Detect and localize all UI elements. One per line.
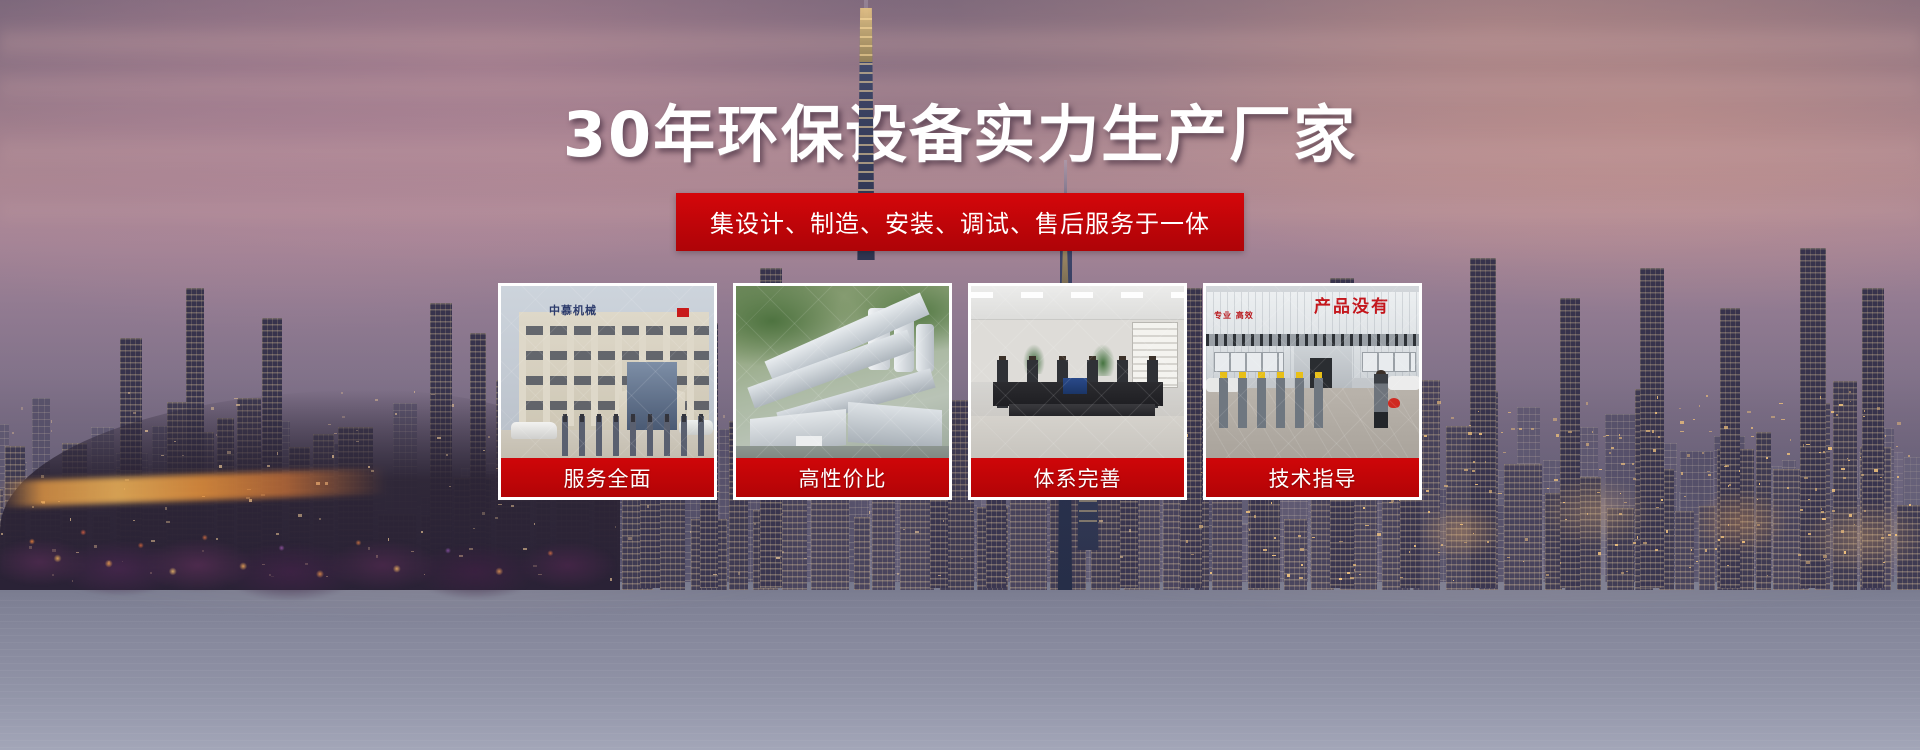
window-light [342, 416, 344, 418]
headline-text: 30年环保设备实力生产厂家 [563, 98, 1357, 171]
window-light [375, 399, 377, 401]
subtitle-banner: 集设计、制造、安装、调试、售后服务于一体 [676, 193, 1244, 251]
window-light [1347, 572, 1350, 574]
window-light [356, 441, 359, 443]
window-light [1254, 515, 1256, 518]
page-title: 30年环保设备实力生产厂家 [0, 104, 1920, 166]
window-light [1312, 537, 1314, 538]
window-light [1271, 502, 1273, 504]
window-light [1298, 535, 1301, 537]
window-light [51, 420, 52, 423]
window-light [12, 432, 14, 434]
feature-card[interactable]: 体系完善 [968, 283, 1187, 500]
window-light [1263, 549, 1266, 551]
window-light [1191, 554, 1194, 555]
factory-sign-text: 产品没有 [1314, 296, 1418, 318]
window-light [1249, 529, 1250, 530]
window-light [738, 572, 740, 575]
building-sign-text: 中慕机械 [549, 302, 653, 318]
window-light [1299, 577, 1303, 579]
window-light [1186, 540, 1188, 543]
window-light [341, 392, 343, 395]
office-meeting-photo [968, 283, 1187, 458]
feature-card-label: 高性价比 [733, 458, 952, 500]
window-light [782, 551, 784, 553]
building [900, 497, 933, 590]
window-light [1300, 548, 1304, 550]
window-light [903, 529, 905, 530]
window-light [145, 430, 148, 432]
feature-card[interactable]: 中慕机械 服务全面 [498, 283, 717, 500]
window-light [1246, 511, 1249, 512]
window-light [961, 558, 963, 560]
window-light [236, 404, 240, 406]
foreground-tower-spire [864, 0, 868, 120]
window-light [1274, 537, 1277, 539]
aerial-plant-photo [733, 283, 952, 458]
company-headquarters-photo: 中慕机械 [498, 283, 717, 458]
window-light [690, 531, 691, 533]
window-light [1339, 541, 1343, 542]
window-light [1129, 529, 1131, 532]
window-light [488, 436, 491, 437]
window-light [211, 407, 214, 410]
window-light [216, 434, 217, 437]
building [782, 498, 807, 590]
building [1284, 519, 1308, 590]
feature-card-label: 服务全面 [498, 458, 717, 500]
window-light [1120, 556, 1123, 559]
feature-card[interactable]: 产品没有 专业 高效 技术指导 [1203, 283, 1422, 500]
window-light [1210, 572, 1212, 574]
window-light [1272, 555, 1276, 557]
window-light [970, 511, 974, 512]
window-light [781, 513, 783, 514]
window-light [452, 404, 453, 407]
window-light [1301, 564, 1303, 567]
window-light [21, 407, 23, 409]
window-light [1339, 578, 1342, 581]
window-light [356, 430, 358, 431]
window-light [234, 398, 237, 399]
window-light [938, 575, 941, 576]
window-light [395, 413, 397, 415]
feature-card-label: 体系完善 [968, 458, 1187, 500]
feature-card-label: 技术指导 [1203, 458, 1422, 500]
window-light [943, 520, 944, 522]
window-light [1354, 569, 1355, 571]
window-light [133, 412, 136, 414]
factory-sign-subtext: 专业 高效 [1214, 310, 1306, 332]
right-skyline-glow [1360, 350, 1920, 610]
factory-yard-training-photo: 产品没有 专业 高效 [1203, 283, 1422, 458]
water-ripples [0, 600, 1920, 750]
window-light [431, 394, 435, 396]
window-light [1353, 564, 1356, 566]
window-light [897, 573, 899, 575]
hero-banner: 30年环保设备实力生产厂家 集设计、制造、安装、调试、售后服务于一体 中慕机械 … [0, 0, 1920, 750]
window-light [51, 430, 53, 433]
building [854, 517, 870, 590]
window-light [414, 391, 415, 393]
window-light [1005, 577, 1009, 578]
window-light [334, 433, 337, 435]
window-light [804, 558, 807, 560]
window-light [869, 511, 870, 514]
window-light [1350, 577, 1353, 579]
building [1212, 484, 1242, 590]
window-light [1199, 525, 1203, 527]
window-light [915, 531, 918, 533]
feature-card-list: 中慕机械 服务全面 高性价比 [498, 283, 1422, 500]
window-light [713, 574, 717, 575]
window-light [128, 392, 130, 394]
window-light [174, 441, 175, 442]
feature-card[interactable]: 高性价比 [733, 283, 952, 500]
window-light [776, 557, 780, 558]
window-light [1287, 574, 1290, 576]
window-light [437, 437, 441, 439]
window-light [328, 424, 331, 425]
window-light [754, 523, 756, 526]
